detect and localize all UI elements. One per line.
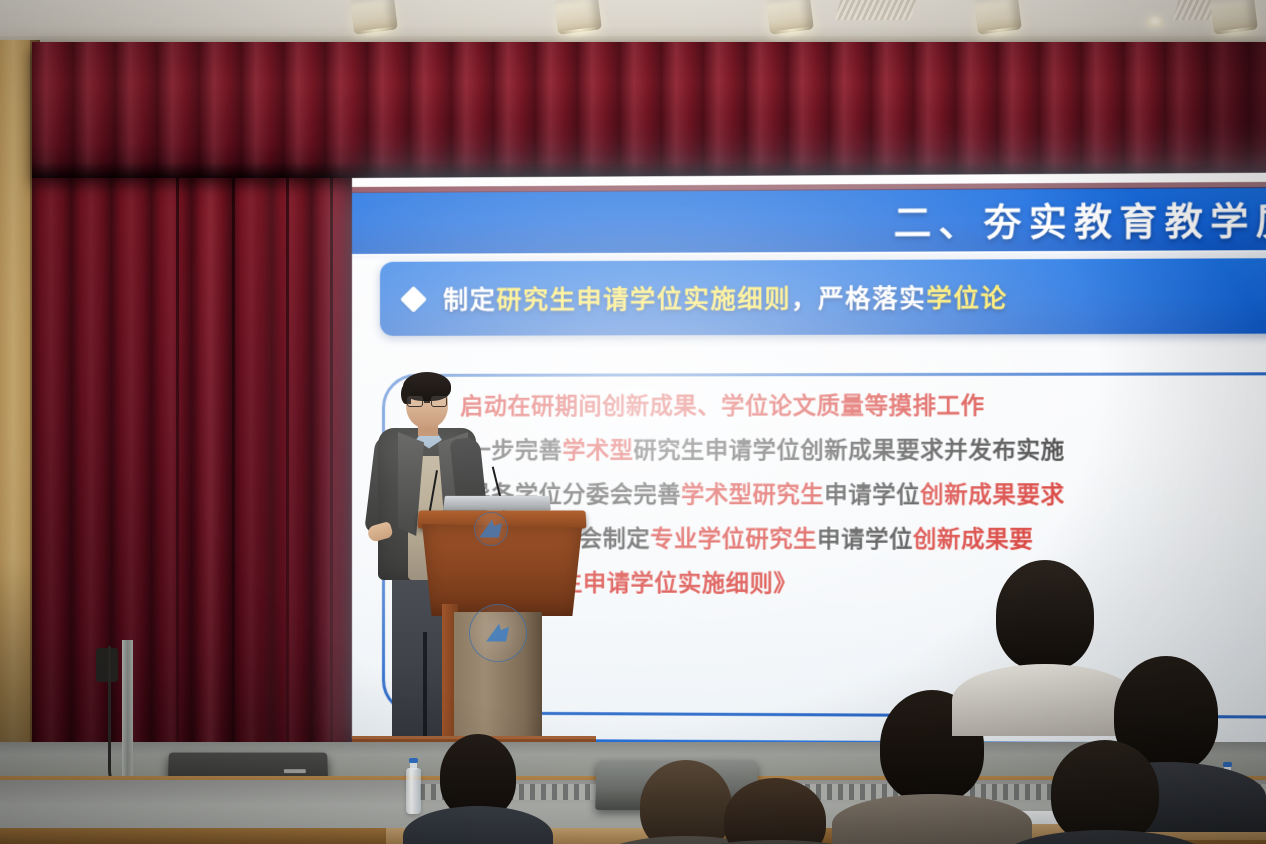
- line2-seg-3: 研究生申请学位创新成果要求并发布实施: [633, 437, 1064, 463]
- callout-seg-3: ，严格落实: [791, 285, 926, 314]
- audience-member: [1030, 734, 1180, 844]
- slide-body-line-1: 启动在研期间创新成果、学位论文质量等摸排工作: [460, 382, 1266, 428]
- curtain-fold: [232, 170, 235, 800]
- slide-body-line-2: 进一步完善学术型研究生申请学位创新成果要求并发布实施: [444, 427, 1266, 472]
- curtain-fold: [330, 170, 333, 800]
- line2-seg-2: 学术型: [562, 437, 633, 463]
- ceiling-spotlight-icon: [1210, 0, 1258, 35]
- audience-head: [724, 778, 826, 844]
- ceiling-spotlight-icon: [974, 0, 1022, 35]
- line4-seg-4: 创新成果要: [913, 526, 1033, 552]
- slide-title-banner: 二、夯实教育教学质量: [352, 187, 1266, 254]
- university-seal-emblem-icon: [474, 512, 508, 546]
- audience-shoulders: [672, 840, 878, 844]
- curtain-fold: [286, 170, 289, 800]
- line3-seg-4: 创新成果要求: [920, 481, 1065, 507]
- curtain-sheen: [258, 170, 284, 800]
- audience-head: [996, 560, 1094, 670]
- line3-seg-2: 学术型研究生: [681, 481, 824, 507]
- line4-seg-2: 专业学位研究生: [650, 525, 817, 551]
- callout-seg-1: 制定: [443, 286, 496, 314]
- line3-seg-3: 申请学位: [824, 481, 920, 507]
- callout-seg-2: 研究生申请学位实施细则: [496, 285, 791, 314]
- slide-callout-box: 制定研究生申请学位实施细则，严格落实学位论: [380, 258, 1266, 336]
- university-seal-emblem-icon: [469, 604, 527, 662]
- slide-body-line-5: 《研究生申请学位实施细则》: [488, 560, 1266, 606]
- auditorium-photo-scene: 二、夯实教育教学质量 制定研究生申请学位实施细则，严格落实学位论 启动在研期间创…: [0, 0, 1266, 844]
- speaker-brand-badge: [284, 769, 306, 773]
- callout-seg-4: 学位论: [926, 285, 1007, 314]
- stage-cable: [108, 646, 134, 796]
- line1-seg-1: 启动在研期间创新成果、学位论文质量等摸排工作: [460, 392, 984, 419]
- audience-member: [418, 724, 538, 844]
- slide-body-line-4: 学位分委会制定专业学位研究生申请学位创新成果要: [484, 516, 1266, 562]
- audience-shoulders: [403, 806, 553, 844]
- glasses-icon: [406, 396, 448, 407]
- diamond-bullet-icon: [400, 285, 427, 312]
- ceiling-vent-icon: [835, 0, 917, 20]
- ceiling-spotlight-icon: [554, 0, 602, 35]
- ceiling-spotlight-icon: [350, 0, 398, 35]
- ceiling-spotlight-icon: [766, 0, 814, 35]
- line4-seg-3: 申请学位: [817, 526, 913, 552]
- audience-shoulders: [999, 830, 1211, 844]
- slide-callout-text: 制定研究生申请学位实施细则，严格落实学位论: [443, 279, 1008, 317]
- curtain-sheen: [196, 170, 222, 800]
- audience-member: [700, 774, 850, 844]
- slide-title: 二、夯实教育教学质量: [894, 191, 1266, 248]
- curtain-valance: [32, 42, 1266, 178]
- audience-head: [1051, 740, 1159, 844]
- ceiling-dome-light-icon: [1146, 16, 1164, 28]
- laptop-icon: [443, 496, 551, 511]
- curtain-fold: [176, 170, 179, 800]
